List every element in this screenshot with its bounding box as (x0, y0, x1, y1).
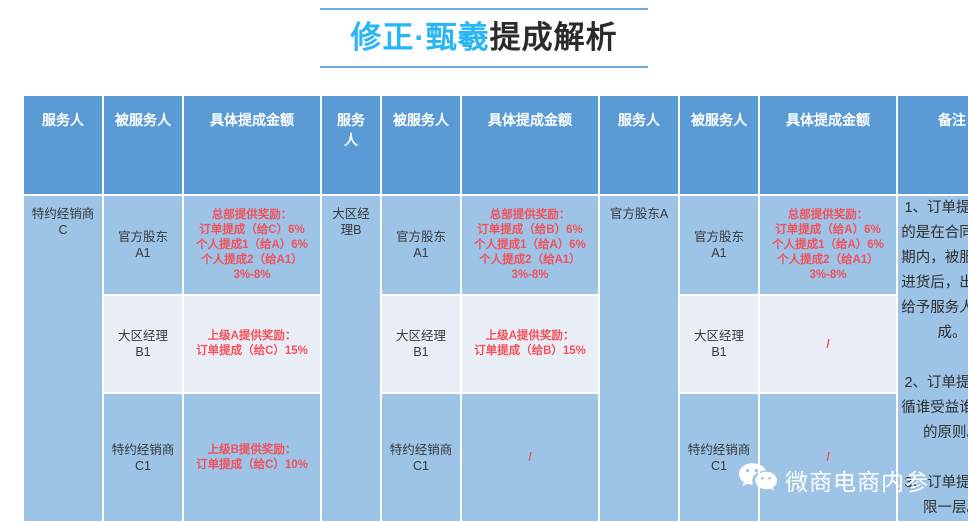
cell-server-group-1: 特约经销商 C (24, 196, 102, 521)
header-amount-1: 具体提成金额 (184, 96, 320, 194)
commission-table: 服务人 被服务人 具体提成金额 服务 人 被服务人 具体提成金额 服务人 被服务… (22, 94, 968, 523)
table-row: 特约经销商 C 官方股东 A1 总部提供奖励： 订单提成（给C）6% 个人提成1… (24, 196, 968, 294)
cell-served-1-2: 大区经理 B1 (104, 296, 182, 392)
header-served-2: 被服务人 (382, 96, 460, 194)
header-amount-3: 具体提成金额 (760, 96, 896, 194)
cell-amount-3-2: / (760, 296, 896, 392)
page-title-block: 修正·甄羲提成解析 (0, 8, 968, 68)
cell-served-3-3: 特约经销商 C1 (680, 394, 758, 521)
cell-served-1-3: 特约经销商 C1 (104, 394, 182, 521)
cell-server-group-2: 大区经 理B (322, 196, 380, 521)
cell-served-3-1: 官方股东 A1 (680, 196, 758, 294)
cell-served-1-1: 官方股东 A1 (104, 196, 182, 294)
cell-amount-1-3: 上级B提供奖励： 订单提成（给C）10% (184, 394, 320, 521)
cell-amount-2-3: / (462, 394, 598, 521)
cell-server-group-3: 官方股东A (600, 196, 678, 521)
header-served-3: 被服务人 (680, 96, 758, 194)
header-amount-2: 具体提成金额 (462, 96, 598, 194)
cell-amount-2-2: 上级A提供奖励： 订单提成（给B）15% (462, 296, 598, 392)
cell-amount-3-3: / (760, 394, 896, 521)
header-server-2: 服务 人 (322, 96, 380, 194)
header-served-1: 被服务人 (104, 96, 182, 194)
table-row: 大区经理 B1 上级A提供奖励： 订单提成（给C）15% 大区经理 B1 上级A… (24, 296, 968, 392)
cell-remarks: 1、订单提成指的是在合同有效期内，被服务人进货后，出货人给予服务人的提成。 2、… (898, 196, 968, 521)
header-server-3: 服务人 (600, 96, 678, 194)
cell-served-2-3: 特约经销商 C1 (382, 394, 460, 521)
page-title: 修正·甄羲提成解析 (0, 10, 968, 66)
header-remarks: 备注 (898, 96, 968, 194)
header-server-1: 服务人 (24, 96, 102, 194)
cell-amount-2-1: 总部提供奖励： 订单提成（给B）6% 个人提成1（给A）6% 个人提成2（给A1… (462, 196, 598, 294)
page-title-accent: 修正·甄羲 (350, 20, 489, 55)
cell-served-3-2: 大区经理 B1 (680, 296, 758, 392)
page-title-main: 提成解析 (490, 20, 618, 55)
cell-amount-1-1: 总部提供奖励： 订单提成（给C）6% 个人提成1（给A）6% 个人提成2（给A1… (184, 196, 320, 294)
table-row: 特约经销商 C1 上级B提供奖励： 订单提成（给C）10% 特约经销商 C1 /… (24, 394, 968, 521)
cell-served-2-2: 大区经理 B1 (382, 296, 460, 392)
cell-amount-1-2: 上级A提供奖励： 订单提成（给C）15% (184, 296, 320, 392)
cell-served-2-1: 官方股东 A1 (382, 196, 460, 294)
cell-amount-3-1: 总部提供奖励： 订单提成（给A）6% 个人提成1（给A）6% 个人提成2（给A1… (760, 196, 896, 294)
title-rule-bottom (320, 66, 648, 68)
table-header-row: 服务人 被服务人 具体提成金额 服务 人 被服务人 具体提成金额 服务人 被服务… (24, 96, 968, 194)
